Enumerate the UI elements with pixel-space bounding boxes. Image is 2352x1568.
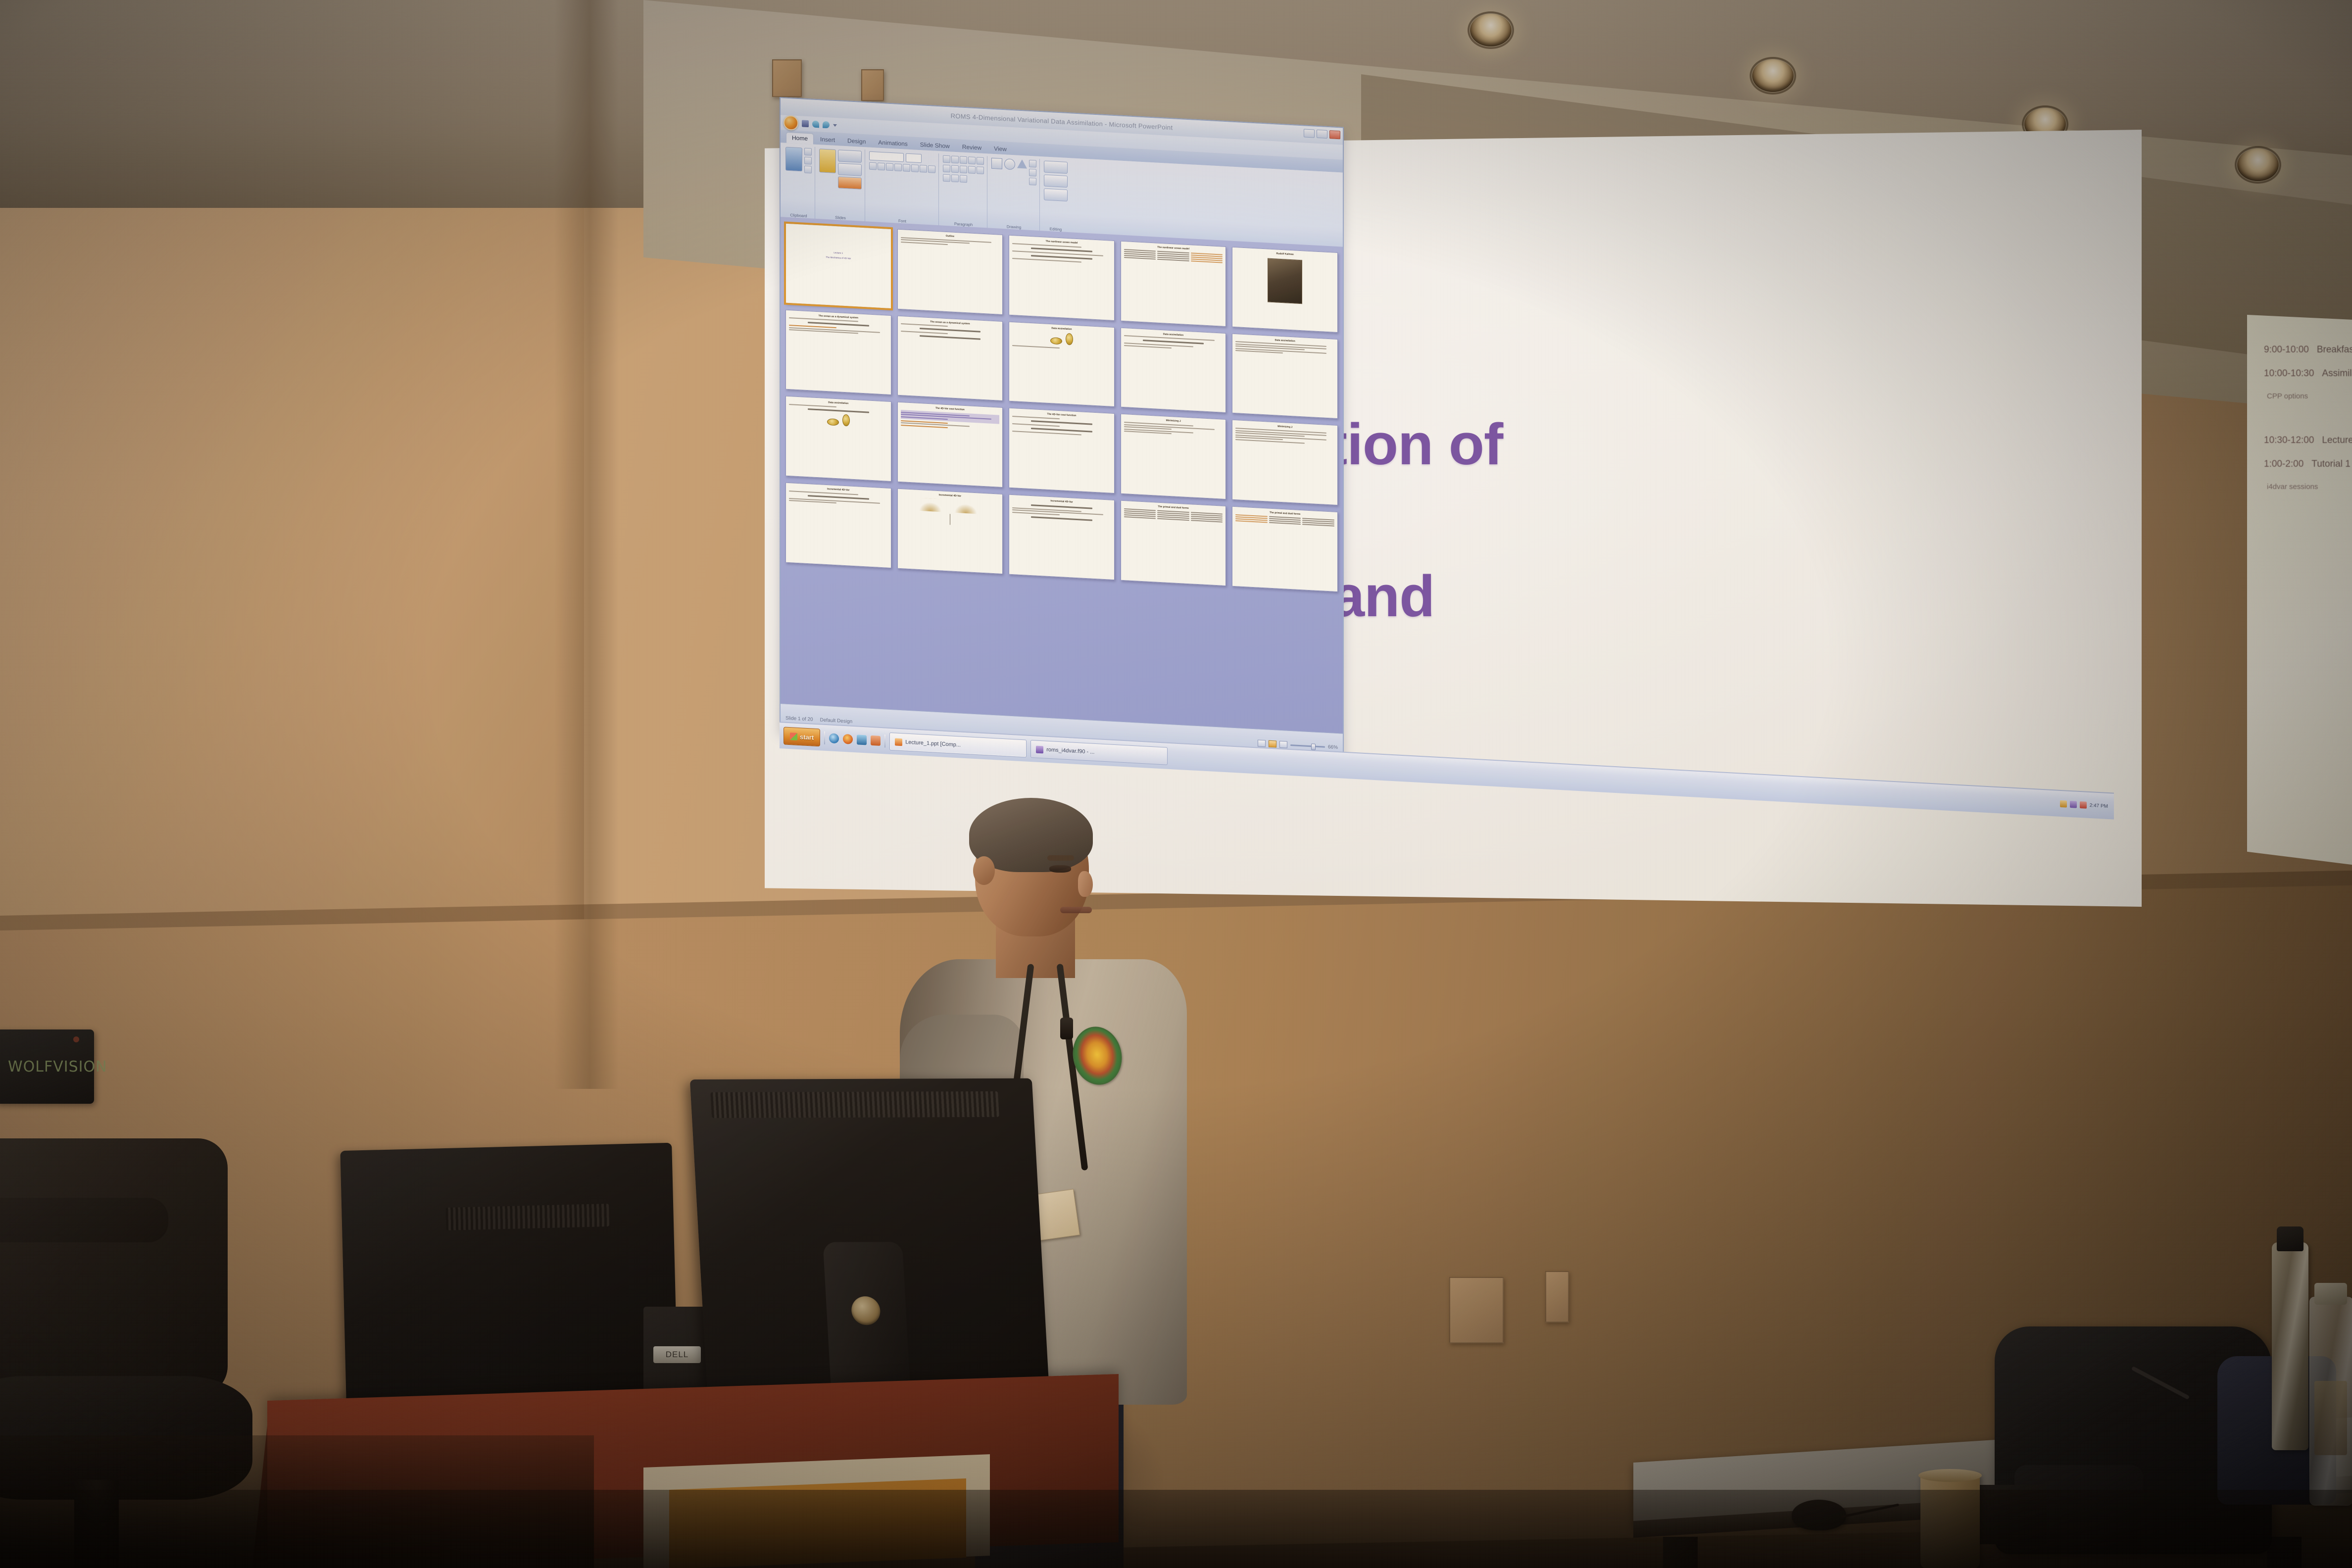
powerpoint-window[interactable]: ROMS 4-Dimensional Variational Data Assi… bbox=[780, 97, 1344, 763]
align-text-icon[interactable] bbox=[951, 174, 959, 182]
metal-bottle-cap bbox=[2277, 1226, 2303, 1251]
font-size-select[interactable] bbox=[906, 153, 922, 163]
chair-armrest bbox=[0, 1198, 168, 1242]
slide-thumbnail-15[interactable]: Minimizing J bbox=[1232, 420, 1338, 505]
slide-11-title: Data assimilation bbox=[789, 399, 888, 407]
slide-thumbnail-11[interactable]: Data assimilation bbox=[785, 396, 891, 482]
justify-icon[interactable] bbox=[968, 166, 976, 174]
schedule-row-4-sub: i4dvar sessions bbox=[2264, 483, 2352, 491]
network-icon[interactable] bbox=[2070, 801, 2077, 808]
minimize-button[interactable] bbox=[1304, 129, 1315, 138]
slide-thumbnail-20[interactable]: The primal and dual forms bbox=[1232, 506, 1338, 592]
monitor-right bbox=[690, 1078, 1050, 1401]
text-direction-icon[interactable] bbox=[943, 174, 950, 182]
ellipse-graphic-d bbox=[842, 414, 850, 427]
slide-thumbnail-1[interactable]: Lecture 1 The Mechanics of 4D-Var bbox=[785, 223, 891, 309]
slide-thumbnail-14[interactable]: Minimizing J bbox=[1121, 414, 1226, 499]
bold-icon[interactable] bbox=[869, 162, 877, 170]
redo-icon[interactable] bbox=[823, 121, 830, 129]
presenter-ear bbox=[973, 856, 995, 885]
ellipse-graphic-b bbox=[1066, 333, 1073, 345]
presenter-mouth bbox=[1060, 907, 1092, 913]
tab-review[interactable]: Review bbox=[957, 142, 987, 153]
schedule-row-2: 10:00-10:30 Assimila... bbox=[2264, 368, 2352, 379]
slide-show-view-icon[interactable] bbox=[1279, 741, 1287, 748]
slide-thumbnail-6[interactable]: The ocean as a dynamical system bbox=[785, 309, 891, 395]
slide-thumbnail-18[interactable]: Incremental 4D-Var bbox=[1009, 494, 1115, 580]
powerpoint-icon bbox=[895, 738, 902, 746]
monitor-left bbox=[340, 1143, 678, 1408]
slide-7-title: The ocean as a dynamical system bbox=[901, 319, 1000, 327]
peak-plot-graphic bbox=[901, 497, 1000, 515]
align-right-icon[interactable] bbox=[960, 165, 967, 173]
lecture-room-photo: Tutorial 1: Explanation of CPP Options, … bbox=[0, 0, 2352, 1568]
find-icon[interactable] bbox=[1044, 160, 1068, 174]
ribbon-group-paragraph[interactable]: Paragraph bbox=[940, 153, 987, 229]
clip-microphone-icon bbox=[1060, 1018, 1073, 1039]
schedule-sub-4: i4dvar sessions bbox=[2267, 483, 2318, 491]
schedule-time-1: 9:00-10:00 bbox=[2264, 344, 2309, 355]
wall-plate-upper-right[interactable] bbox=[861, 69, 884, 101]
select-icon[interactable] bbox=[1044, 188, 1068, 201]
taskbar-separator bbox=[884, 735, 885, 747]
reset-icon[interactable] bbox=[838, 163, 862, 176]
bullets-icon[interactable] bbox=[943, 155, 950, 163]
slide-thumbnail-3[interactable]: The nonlinear ocean model bbox=[1009, 235, 1115, 321]
status-slide-count: Slide 1 of 20 bbox=[785, 715, 813, 722]
slide-thumbnail-9[interactable]: Data assimilation bbox=[1121, 327, 1226, 413]
rectangle-shape-icon[interactable] bbox=[991, 158, 1002, 169]
shape-fill-icon[interactable] bbox=[1029, 160, 1036, 168]
slide-thumbnail-2[interactable]: Outline bbox=[897, 229, 1003, 315]
wall-switch-plate[interactable] bbox=[1545, 1271, 1569, 1323]
ellipse-graphic-c bbox=[827, 418, 839, 426]
normal-view-icon[interactable] bbox=[1258, 739, 1266, 747]
outlook-icon[interactable] bbox=[871, 735, 881, 746]
schedule-sub-2: CPP options bbox=[2267, 392, 2308, 400]
visualizer-indicator-light bbox=[73, 1036, 79, 1042]
start-button[interactable]: start bbox=[784, 727, 820, 746]
firefox-icon[interactable] bbox=[843, 734, 853, 744]
slide-thumbnail-grid[interactable]: Lecture 1 The Mechanics of 4D-Var Outlin… bbox=[785, 223, 1338, 592]
quick-launch-separator bbox=[824, 732, 825, 744]
align-left-icon[interactable] bbox=[943, 165, 950, 173]
schedule-row-2-sub: CPP options bbox=[2264, 392, 2352, 400]
ribbon-group-slides[interactable]: Slides bbox=[816, 147, 865, 222]
italic-icon[interactable] bbox=[878, 163, 885, 171]
wolfvision-visualizer: WOLFVISION bbox=[0, 1029, 94, 1104]
ribbon-group-editing[interactable]: Editing bbox=[1041, 159, 1071, 233]
ribbon-group-clipboard[interactable]: Clipboard bbox=[783, 145, 815, 220]
taskbar-window-label-2: roms_i4dvar.f90 - ... bbox=[1046, 747, 1094, 755]
slide-1-title: Lecture 1 bbox=[833, 251, 843, 254]
floor-foreground bbox=[0, 1490, 2352, 1568]
dell-brand-label: DELL bbox=[653, 1346, 701, 1363]
decrease-indent-icon[interactable] bbox=[960, 156, 967, 164]
monitor-right-vent bbox=[710, 1091, 999, 1118]
slide-thumbnail-8[interactable]: Data assimilation bbox=[1009, 321, 1115, 407]
media-player-icon[interactable] bbox=[857, 735, 867, 745]
tab-slide-show[interactable]: Slide Show bbox=[915, 140, 955, 152]
taskbar-window-label-1: Lecture_1.ppt [Comp... bbox=[905, 739, 961, 748]
schedule-row-1: 9:00-10:00 Breakfast bbox=[2264, 344, 2352, 355]
new-slide-icon[interactable] bbox=[819, 148, 836, 173]
strikethrough-icon[interactable] bbox=[903, 164, 910, 172]
tab-home[interactable]: Home bbox=[786, 133, 813, 145]
clear-bottle-cap bbox=[2314, 1283, 2347, 1305]
font-family-select[interactable] bbox=[869, 151, 904, 162]
ribbon-group-drawing[interactable]: Drawing bbox=[988, 156, 1040, 232]
ellipse-graphic-a bbox=[1050, 338, 1062, 345]
coffee-cup-rim bbox=[1918, 1469, 1982, 1482]
font-color-icon[interactable] bbox=[928, 165, 935, 173]
ceiling-downlight-2 bbox=[1752, 59, 1794, 92]
projection-screen-secondary: 9:00-10:00 Breakfast 10:00-10:30 Assimil… bbox=[2247, 315, 2352, 874]
volume-icon[interactable] bbox=[2060, 800, 2067, 808]
schedule-desc-3: Lecture 1 bbox=[2322, 435, 2352, 446]
slide-thumbnail-10[interactable]: Data assimilation bbox=[1232, 333, 1338, 419]
underline-icon[interactable] bbox=[886, 163, 893, 171]
cut-icon[interactable] bbox=[804, 148, 812, 156]
save-icon[interactable] bbox=[802, 120, 809, 127]
security-icon[interactable] bbox=[2080, 801, 2087, 809]
slide-thumbnail-13[interactable]: The 4D-Var cost function bbox=[1009, 408, 1115, 493]
chevron-down-icon[interactable] bbox=[833, 124, 837, 126]
clear-bottle-label bbox=[2314, 1381, 2347, 1455]
presenter-eye bbox=[1049, 865, 1071, 873]
internet-explorer-icon[interactable] bbox=[829, 733, 839, 743]
slide-5-title: Rudolf Kalman bbox=[1235, 250, 1334, 258]
copy-icon[interactable] bbox=[804, 157, 812, 165]
schedule-desc-4: Tutorial 1 bbox=[2311, 459, 2351, 470]
schedule-time-2: 10:00-10:30 bbox=[2264, 368, 2314, 379]
align-center-icon[interactable] bbox=[951, 165, 959, 173]
slide-thumbnail-7[interactable]: The ocean as a dynamical system bbox=[897, 315, 1003, 401]
system-tray[interactable]: 2:47 PM bbox=[2060, 800, 2110, 810]
slide-13-title: The 4D-Var cost function bbox=[1012, 411, 1111, 419]
powerpoint-icon-2 bbox=[1036, 745, 1043, 753]
taskbar-window-powerpoint[interactable]: Lecture_1.ppt [Comp... bbox=[889, 733, 1027, 758]
ellipse-shape-icon[interactable] bbox=[1004, 158, 1015, 170]
taskbar-window-editor[interactable]: roms_i4dvar.f90 - ... bbox=[1030, 740, 1168, 765]
close-icon[interactable] bbox=[1329, 130, 1340, 139]
schedule-desc-2: Assimila... bbox=[2322, 368, 2352, 379]
presenter-eyebrow bbox=[1047, 855, 1074, 861]
wall-corner-shadow bbox=[554, 0, 619, 1089]
windows-flag-icon bbox=[790, 733, 797, 740]
paste-icon[interactable] bbox=[785, 147, 802, 172]
columns-icon[interactable] bbox=[977, 166, 984, 174]
replace-icon[interactable] bbox=[1044, 174, 1068, 188]
slide-thumbnail-17[interactable]: Incremental 4D-Var bbox=[897, 489, 1003, 574]
slide-18-title: Incremental 4D-Var bbox=[1012, 497, 1111, 506]
format-painter-icon[interactable] bbox=[804, 166, 812, 174]
increase-indent-icon[interactable] bbox=[968, 156, 976, 164]
metal-water-bottle bbox=[2272, 1242, 2308, 1450]
slide-sorter-view-icon[interactable] bbox=[1269, 740, 1276, 748]
line-spacing-icon[interactable] bbox=[977, 157, 984, 165]
visualizer-brand-label: WOLFVISION bbox=[8, 1058, 107, 1076]
monitor-left-vent bbox=[445, 1204, 609, 1230]
zoom-slider[interactable] bbox=[1290, 744, 1325, 747]
zoom-level-label: 66% bbox=[1328, 744, 1338, 750]
numbering-icon[interactable] bbox=[951, 155, 959, 163]
slide-1-subtitle: The Mechanics of 4D-Var bbox=[826, 256, 851, 260]
slide-thumbnail-19[interactable]: The primal and dual forms bbox=[1121, 500, 1226, 586]
wall-outlet-plate[interactable] bbox=[1449, 1277, 1504, 1343]
window-controls[interactable] bbox=[1304, 129, 1340, 139]
schedule-time-4: 1:00-2:00 bbox=[2264, 459, 2303, 470]
undo-icon[interactable] bbox=[812, 121, 819, 128]
tab-view[interactable]: View bbox=[988, 143, 1012, 155]
schedule-row-3: 10:30-12:00 Lecture 1 bbox=[2264, 435, 2352, 446]
slide-thumbnail-12[interactable]: The 4D-Var cost function bbox=[897, 402, 1003, 488]
ceiling-downlight-1 bbox=[1470, 14, 1512, 47]
office-button-icon[interactable] bbox=[784, 115, 798, 131]
presenter-nose bbox=[1078, 871, 1093, 897]
slide-thumbnail-4[interactable]: The nonlinear ocean model bbox=[1121, 241, 1226, 327]
shape-effects-icon[interactable] bbox=[1029, 178, 1036, 186]
maximize-button[interactable] bbox=[1317, 130, 1327, 139]
schedule-row-4: 1:00-2:00 Tutorial 1 bbox=[2264, 459, 2352, 470]
zoom-slider-handle[interactable] bbox=[1311, 743, 1316, 750]
taskbar-clock[interactable]: 2:47 PM bbox=[2090, 803, 2108, 809]
triangle-shape-icon[interactable] bbox=[1017, 159, 1027, 169]
tab-design[interactable]: Design bbox=[842, 136, 871, 147]
slide-5-photo bbox=[1268, 258, 1302, 304]
ribbon-group-font[interactable]: Font bbox=[866, 149, 939, 226]
char-spacing-icon[interactable] bbox=[911, 164, 919, 172]
tab-animations[interactable]: Animations bbox=[873, 137, 913, 149]
delete-slide-icon[interactable] bbox=[838, 176, 862, 190]
slide-thumbnail-16[interactable]: Incremental 4D-Var bbox=[785, 483, 891, 568]
slide-sorter-pane[interactable]: Lecture 1 The Mechanics of 4D-Var Outlin… bbox=[781, 217, 1343, 734]
start-button-label: start bbox=[800, 733, 814, 741]
tab-insert[interactable]: Insert bbox=[815, 134, 840, 146]
status-theme-name: Default Design bbox=[820, 717, 853, 724]
convert-smartart-icon[interactable] bbox=[960, 175, 967, 183]
wall-plate-upper-left[interactable] bbox=[772, 59, 802, 97]
chair-backrest bbox=[0, 1138, 228, 1396]
schedule-desc-1: Breakfast bbox=[2317, 344, 2352, 355]
slide-thumbnail-5[interactable]: Rudolf Kalman bbox=[1232, 247, 1338, 333]
shadow-icon[interactable] bbox=[894, 163, 902, 171]
schedule-time-3: 10:30-12:00 bbox=[2264, 435, 2314, 446]
change-case-icon[interactable] bbox=[920, 165, 927, 173]
shape-outline-icon[interactable] bbox=[1029, 169, 1036, 177]
ceiling-downlight-4 bbox=[2237, 148, 2279, 181]
layout-icon[interactable] bbox=[838, 149, 862, 163]
